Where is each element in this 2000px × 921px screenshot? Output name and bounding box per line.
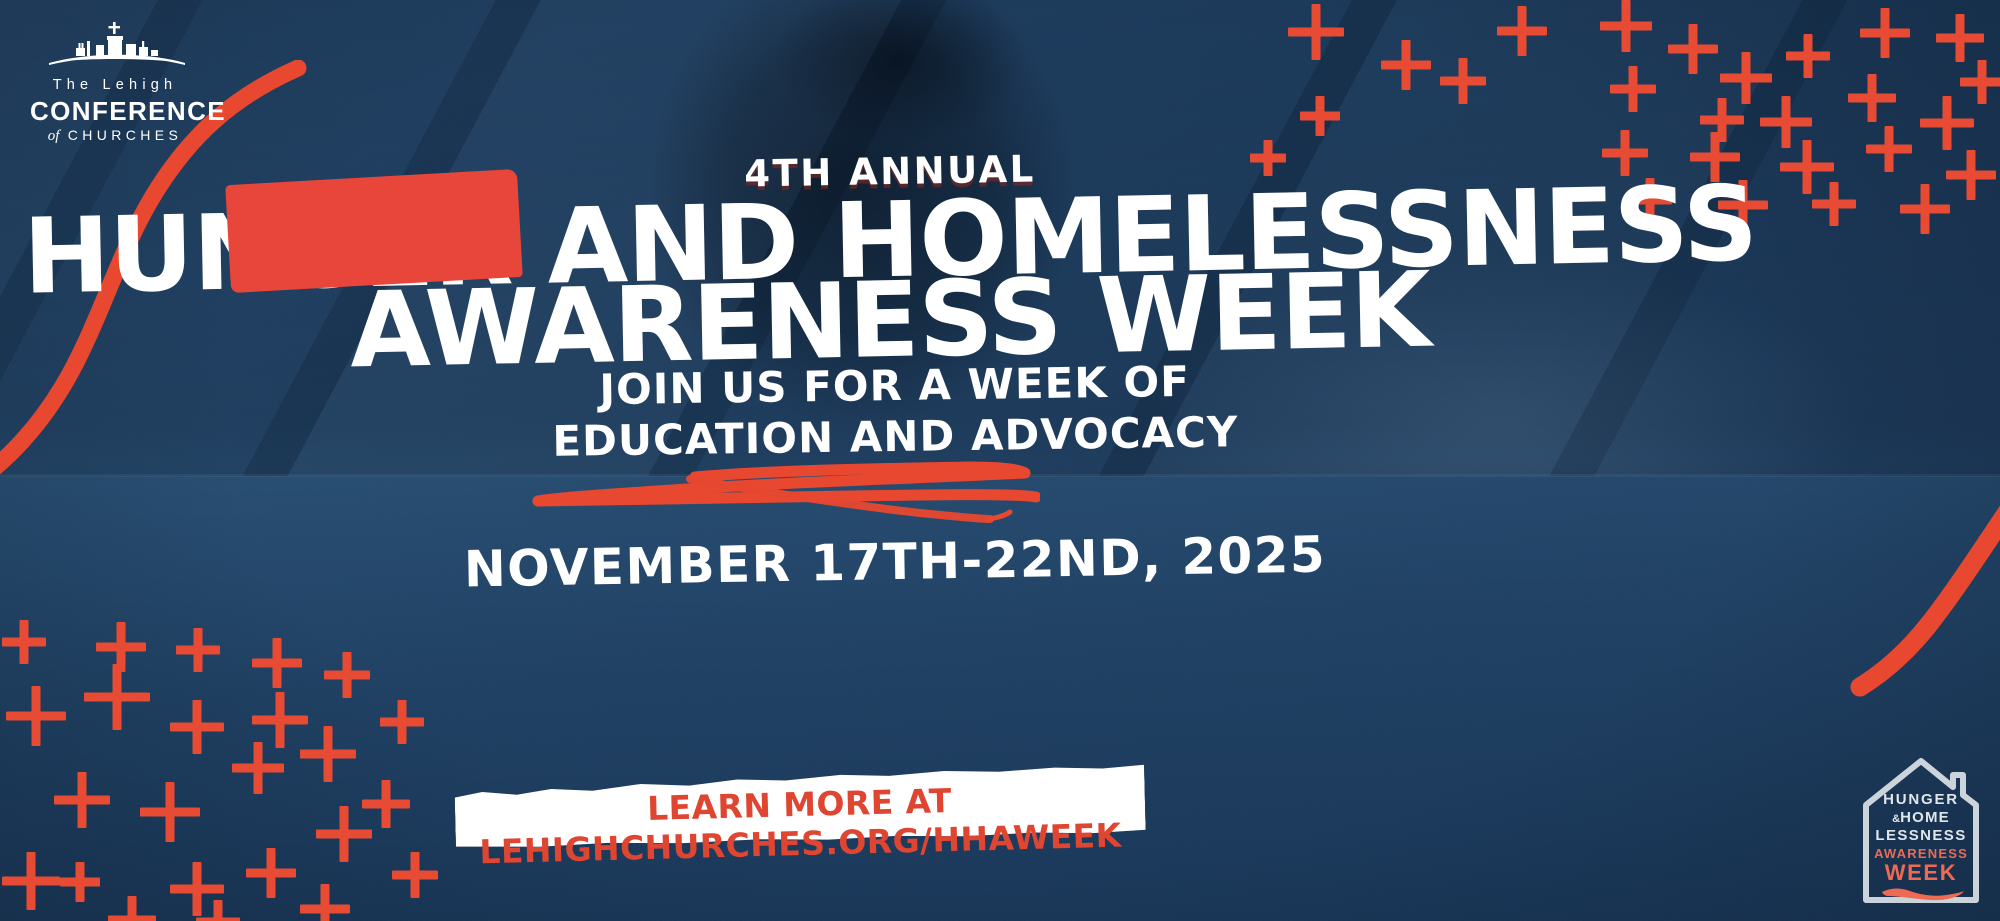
banner-root: The Lehigh CONFERENCE of CHURCHES 4TH AN… [0, 0, 2000, 921]
hunger-highlight-box [225, 169, 523, 293]
badge-line-5: WEEK [1857, 862, 1985, 884]
badge-line-2: &HOME [1857, 810, 1985, 825]
badge-ampersand: & [1892, 813, 1900, 825]
badge-home-word: HOME [1900, 809, 1950, 826]
cta-url-text[interactable]: LEARN MORE AT LEHIGHCHURCHES.ORG/HHAWEEK [454, 776, 1146, 872]
headline-block: 4TH ANNUAL HUNGER AND HOMELESSNESS AWARE… [0, 0, 2000, 921]
badge-line-4: AWARENESS [1857, 847, 1985, 860]
badge-line-1: HUNGER [1857, 792, 1985, 807]
spoon-icon [1876, 885, 1966, 903]
hhaw-badge[interactable]: HUNGER &HOME LESSNESS AWARENESS WEEK [1857, 753, 1985, 908]
event-date: NOVEMBER 17TH-22ND, 2025 [0, 517, 1790, 606]
badge-line-3: LESSNESS [1857, 828, 1985, 843]
cta-url-banner[interactable]: LEARN MORE AT LEHIGHCHURCHES.ORG/HHAWEEK [455, 771, 1145, 841]
